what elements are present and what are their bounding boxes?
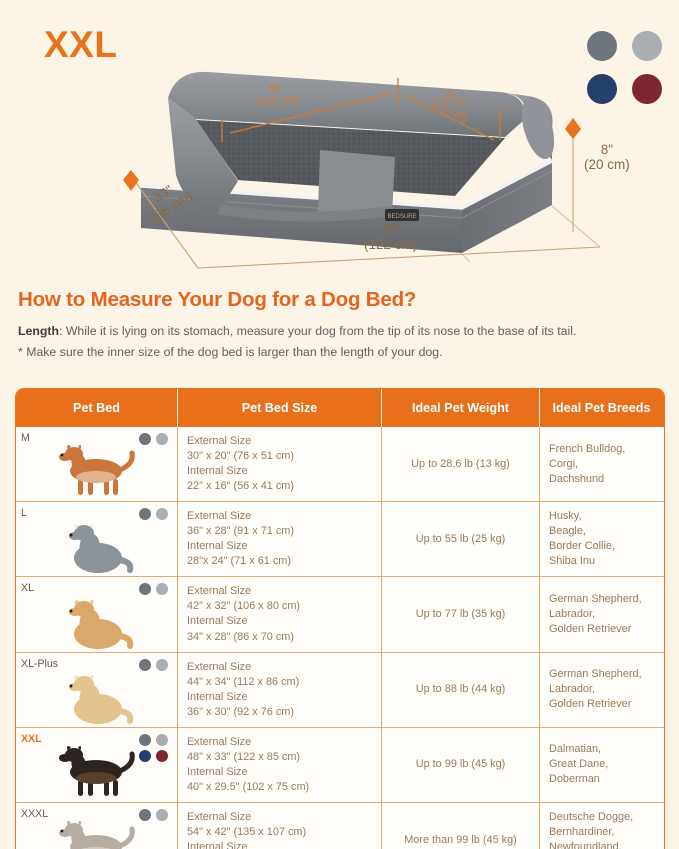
- dog-photo-border-collie: [46, 516, 146, 574]
- breed-name: Newfoundland,: [549, 840, 654, 849]
- dog-bed-illustration: BEDSURE: [0, 0, 679, 278]
- inner-size-note: * Make sure the inner size of the dog be…: [18, 344, 648, 362]
- table-row: XL-PlusExternal Size44" x 34" (112 x 86 …: [16, 652, 664, 727]
- breed-name: Shiba Inu: [549, 554, 654, 569]
- size-chart-table: Pet Bed Pet Bed Size Ideal Pet Weight Id…: [15, 388, 665, 849]
- breed-name: Golden Retriever: [549, 622, 654, 637]
- cell-ideal-weight: Up to 99 lb (45 kg): [382, 728, 540, 802]
- row-color-swatches[interactable]: [139, 809, 168, 821]
- cell-ideal-breeds: Husky,Beagle,Border Collie,Shiba Inu: [540, 502, 663, 576]
- cell-ideal-weight: Up to 28.6 lb (13 kg): [382, 427, 540, 501]
- internal-size-label: Internal Size: [187, 464, 372, 479]
- how-to-measure-section: How to Measure Your Dog for a Dog Bed? L…: [18, 288, 648, 365]
- cell-ideal-breeds: German Shepherd,Labrador,Golden Retrieve…: [540, 653, 663, 727]
- external-size-value: 48" x 33" (122 x 85 cm): [187, 750, 372, 765]
- internal-size-value: 22" x 16" (56 x 41 cm): [187, 479, 372, 494]
- bed-size-label-xxxl: XXXL: [21, 808, 48, 820]
- breed-name: Bernhardiner,: [549, 825, 654, 840]
- cell-pet-bed-size: External Size44" x 34" (112 x 86 cm)Inte…: [178, 653, 382, 727]
- breed-name: Great Dane,: [549, 757, 654, 772]
- color-dot[interactable]: [139, 750, 151, 762]
- breed-name: Border Collie,: [549, 539, 654, 554]
- internal-size-label: Internal Size: [187, 765, 372, 780]
- cell-ideal-breeds: Dalmatian,Great Dane,Doberman: [540, 728, 663, 802]
- internal-size-label: Internal Size: [187, 539, 372, 554]
- bed-size-label-xl: XL: [21, 582, 34, 594]
- external-size-value: 54" x 42" (135 x 107 cm): [187, 825, 372, 840]
- breed-name: Golden Retriever: [549, 697, 654, 712]
- cell-pet-bed-size: External Size30" x 20" (76 x 51 cm)Inter…: [178, 427, 382, 501]
- table-row: MExternal Size30" x 20" (76 x 51 cm)Inte…: [16, 427, 664, 501]
- color-dot[interactable]: [156, 734, 168, 746]
- column-header-ideal-weight: Ideal Pet Weight: [382, 389, 540, 427]
- ideal-weight-value: Up to 99 lb (45 kg): [416, 757, 506, 772]
- bed-size-label-xxl: XXL: [21, 733, 42, 745]
- color-dot[interactable]: [156, 809, 168, 821]
- row-color-swatches[interactable]: [139, 433, 168, 445]
- arrow-marker-depth: [123, 170, 139, 191]
- breed-name: German Shepherd,: [549, 592, 654, 607]
- breed-name: Doberman: [549, 772, 654, 787]
- ideal-weight-value: Up to 28.6 lb (13 kg): [411, 457, 510, 472]
- arrow-marker-height: [565, 118, 581, 139]
- dog-photo-doberman: [46, 742, 146, 800]
- bed-svg: BEDSURE: [0, 0, 679, 278]
- cell-pet-bed-size: External Size42" x 32" (106 x 80 cm)Inte…: [178, 577, 382, 651]
- internal-size-label: Internal Size: [187, 840, 372, 849]
- table-row: XXLExternal Size48" x 33" (122 x 85 cm)I…: [16, 727, 664, 802]
- cell-ideal-weight: Up to 77 lb (35 kg): [382, 577, 540, 651]
- cell-ideal-weight: More than 99 lb (45 kg): [382, 803, 540, 849]
- ideal-weight-value: More than 99 lb (45 kg): [404, 833, 517, 848]
- internal-size-label: Internal Size: [187, 690, 372, 705]
- cell-ideal-breeds: French Bulldog,Corgi,Dachshund: [540, 427, 663, 501]
- length-instruction: Length: While it is lying on its stomach…: [18, 323, 648, 341]
- dog-photo-corgi: [46, 441, 146, 499]
- column-header-ideal-breeds: Ideal Pet Breeds: [540, 389, 663, 427]
- color-dot[interactable]: [156, 659, 168, 671]
- breed-name: Beagle,: [549, 524, 654, 539]
- cell-pet-bed: M: [16, 427, 178, 501]
- breed-name: Dalmatian,: [549, 742, 654, 757]
- external-size-label: External Size: [187, 434, 372, 449]
- breed-name: Deutsche Dogge,: [549, 810, 654, 825]
- color-dot[interactable]: [139, 583, 151, 595]
- table-header-row: Pet Bed Pet Bed Size Ideal Pet Weight Id…: [16, 389, 664, 427]
- length-label: Length: [18, 324, 59, 338]
- cell-pet-bed: XXXL: [16, 803, 178, 849]
- row-color-swatches[interactable]: [139, 508, 168, 520]
- internal-size-value: 40" x 29.5" (102 x 75 cm): [187, 780, 372, 795]
- dimension-width: 48" (122 cm): [364, 222, 417, 252]
- color-dot[interactable]: [156, 750, 168, 762]
- breed-name: Husky,: [549, 509, 654, 524]
- cell-ideal-weight: Up to 88 lb (44 kg): [382, 653, 540, 727]
- svg-text:BEDSURE: BEDSURE: [387, 214, 416, 220]
- breed-name: Labrador,: [549, 682, 654, 697]
- cell-ideal-breeds: German Shepherd,Labrador,Golden Retrieve…: [540, 577, 663, 651]
- color-dot[interactable]: [156, 508, 168, 520]
- internal-size-label: Internal Size: [187, 614, 372, 629]
- external-size-label: External Size: [187, 660, 372, 675]
- hero-section: XXL: [0, 0, 679, 278]
- dog-photo-labrador: [46, 667, 146, 725]
- column-header-pet-bed-size: Pet Bed Size: [178, 389, 382, 427]
- color-dot[interactable]: [139, 809, 151, 821]
- cell-pet-bed: XL-Plus: [16, 653, 178, 727]
- breed-name: German Shepherd,: [549, 667, 654, 682]
- ideal-weight-value: Up to 77 lb (35 kg): [416, 607, 506, 622]
- breed-name: Corgi,: [549, 457, 654, 472]
- cell-pet-bed: L: [16, 502, 178, 576]
- external-size-value: 36" x 28" (91 x 71 cm): [187, 524, 372, 539]
- cell-ideal-breeds: Deutsche Dogge,Bernhardiner,Newfoundland…: [540, 803, 663, 849]
- external-size-label: External Size: [187, 584, 372, 599]
- cell-pet-bed: XL: [16, 577, 178, 651]
- internal-size-value: 34" x 28" (86 x 70 cm): [187, 630, 372, 645]
- cell-pet-bed-size: External Size54" x 42" (135 x 107 cm)Int…: [178, 803, 382, 849]
- external-size-label: External Size: [187, 509, 372, 524]
- table-row: XLExternal Size42" x 32" (106 x 80 cm)In…: [16, 576, 664, 651]
- bed-size-label-l: L: [21, 507, 27, 519]
- internal-size-value: 28"x 24" (71 x 61 cm): [187, 554, 372, 569]
- dog-photo-malamute: [46, 817, 146, 849]
- external-size-label: External Size: [187, 810, 372, 825]
- ideal-weight-value: Up to 55 lb (25 kg): [416, 532, 506, 547]
- external-size-label: External Size: [187, 735, 372, 750]
- dimension-inner-width: 40" (102 cm): [254, 81, 299, 109]
- color-dot[interactable]: [156, 583, 168, 595]
- external-size-value: 42" x 32" (106 x 80 cm): [187, 599, 372, 614]
- length-text: : While it is lying on its stomach, meas…: [59, 324, 576, 338]
- internal-size-value: 36" x 30" (92 x 76 cm): [187, 705, 372, 720]
- dog-photo-golden-retriever: [46, 592, 146, 650]
- color-dot[interactable]: [139, 734, 151, 746]
- color-dot[interactable]: [139, 508, 151, 520]
- cell-pet-bed-size: External Size48" x 33" (122 x 85 cm)Inte…: [178, 728, 382, 802]
- bed-size-label-m: M: [21, 432, 30, 444]
- external-size-value: 44" x 34" (112 x 86 cm): [187, 675, 372, 690]
- table-row: XXXLExternal Size54" x 42" (135 x 107 cm…: [16, 802, 664, 849]
- dimension-height: 8" (20 cm): [584, 142, 630, 172]
- table-row: LExternal Size36" x 28" (91 x 71 cm)Inte…: [16, 501, 664, 576]
- breed-name: French Bulldog,: [549, 442, 654, 457]
- external-size-value: 30" x 20" (76 x 51 cm): [187, 449, 372, 464]
- section-heading: How to Measure Your Dog for a Dog Bed?: [18, 288, 648, 312]
- row-color-swatches[interactable]: [139, 734, 168, 762]
- row-color-swatches[interactable]: [139, 659, 168, 671]
- breed-name: Dachshund: [549, 472, 654, 487]
- breed-name: Labrador,: [549, 607, 654, 622]
- cell-ideal-weight: Up to 55 lb (25 kg): [382, 502, 540, 576]
- cell-pet-bed-size: External Size36" x 28" (91 x 71 cm)Inter…: [178, 502, 382, 576]
- ideal-weight-value: Up to 88 lb (44 kg): [416, 682, 506, 697]
- color-dot[interactable]: [156, 433, 168, 445]
- product-size-infographic: XXL: [0, 0, 679, 849]
- cell-pet-bed: XXL: [16, 728, 178, 802]
- column-header-pet-bed: Pet Bed: [16, 389, 178, 427]
- color-dot[interactable]: [139, 433, 151, 445]
- table-body: MExternal Size30" x 20" (76 x 51 cm)Inte…: [16, 427, 664, 849]
- row-color-swatches[interactable]: [139, 583, 168, 595]
- color-dot[interactable]: [139, 659, 151, 671]
